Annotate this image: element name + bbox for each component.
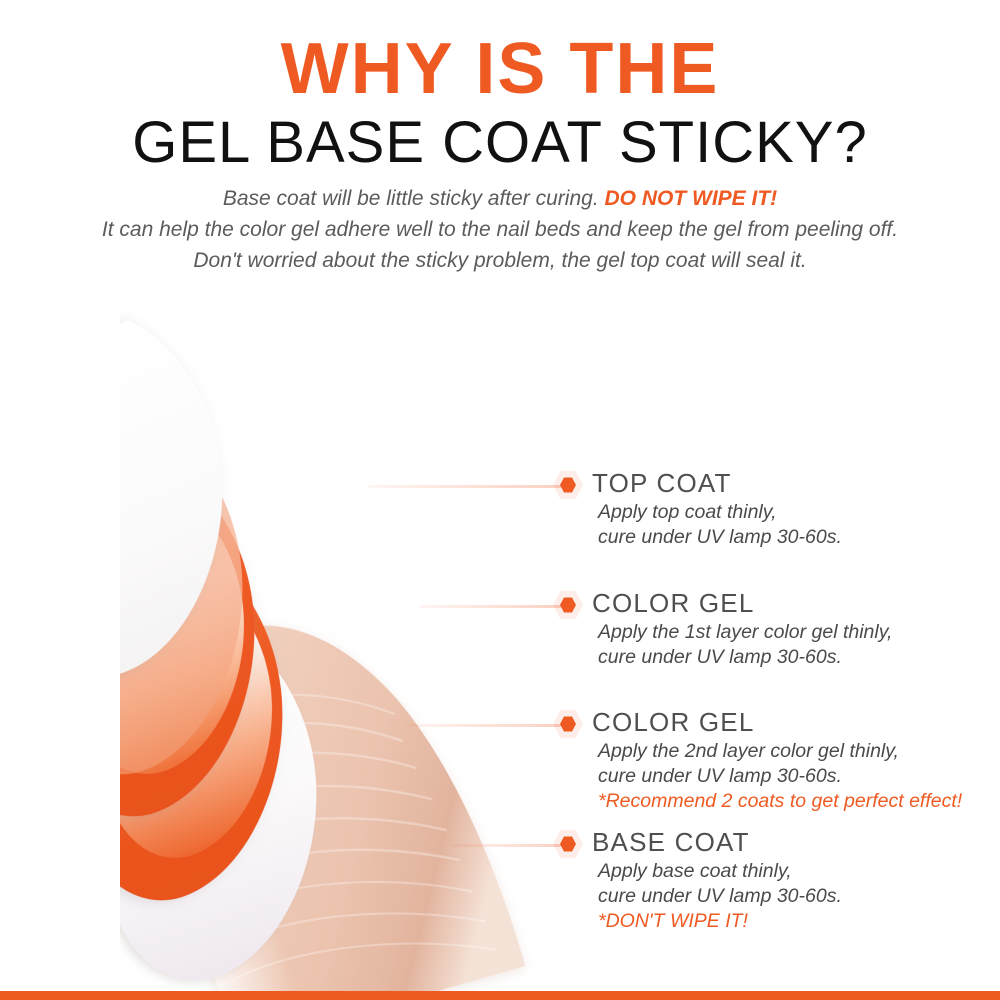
bullet-hexagon-base-coat xyxy=(553,829,583,859)
callout-top-coat: TOP COAT Apply top coat thinly, cure und… xyxy=(592,469,992,550)
callout-body: Apply the 2nd layer color gel thinly, cu… xyxy=(592,739,992,814)
infographic-page: WHY IS THE GEL BASE COAT STICKY? Base co… xyxy=(0,0,1000,1000)
leader-line-top-coat xyxy=(368,485,562,488)
callout-line-2: cure under UV lamp 30-60s. xyxy=(598,764,992,789)
callout-body: Apply the 1st layer color gel thinly, cu… xyxy=(592,620,992,670)
leader-line-base-coat xyxy=(452,844,562,847)
callout-title: BASE COAT xyxy=(592,828,992,856)
callout-line-2: cure under UV lamp 30-60s. xyxy=(598,884,992,909)
subtitle-line-1: Base coat will be little sticky after cu… xyxy=(0,183,1000,214)
subtitle-line-2: It can help the color gel adhere well to… xyxy=(0,214,1000,245)
leader-line-color-gel-2 xyxy=(406,724,562,727)
callout-note: *Recommend 2 coats to get perfect effect… xyxy=(598,789,992,814)
callout-line-1: Apply base coat thinly, xyxy=(598,859,992,884)
callout-line-2: cure under UV lamp 30-60s. xyxy=(598,525,992,550)
callout-title: COLOR GEL xyxy=(592,589,992,617)
subtitle-warning: DO NOT WIPE IT! xyxy=(605,187,778,210)
leader-line-color-gel-1 xyxy=(420,605,562,608)
subtitle-line-3: Don't worried about the sticky problem, … xyxy=(0,245,1000,276)
callout-body: Apply base coat thinly, cure under UV la… xyxy=(592,859,992,934)
callout-line-2: cure under UV lamp 30-60s. xyxy=(598,645,992,670)
callout-title: TOP COAT xyxy=(592,469,992,497)
callout-note: *DON'T WIPE IT! xyxy=(598,909,992,934)
nail-layers-illustration xyxy=(120,295,590,1000)
page-title: WHY IS THE GEL BASE COAT STICKY? xyxy=(0,32,1000,176)
title-line-2: GEL BASE COAT STICKY? xyxy=(0,110,1000,176)
callout-line-1: Apply the 1st layer color gel thinly, xyxy=(598,620,992,645)
callout-line-1: Apply the 2nd layer color gel thinly, xyxy=(598,739,992,764)
callout-color-gel-2: COLOR GEL Apply the 2nd layer color gel … xyxy=(592,708,992,814)
callout-color-gel-1: COLOR GEL Apply the 1st layer color gel … xyxy=(592,589,992,670)
callout-body: Apply top coat thinly, cure under UV lam… xyxy=(592,500,992,550)
title-line-1: WHY IS THE xyxy=(0,32,1000,106)
callout-title: COLOR GEL xyxy=(592,708,992,736)
callout-line-1: Apply top coat thinly, xyxy=(598,500,992,525)
bullet-hexagon-top-coat xyxy=(553,470,583,500)
callout-base-coat: BASE COAT Apply base coat thinly, cure u… xyxy=(592,828,992,934)
subtitle-line-1-text: Base coat will be little sticky after cu… xyxy=(223,187,605,210)
bullet-hexagon-color-gel-2 xyxy=(553,709,583,739)
bullet-hexagon-color-gel-1 xyxy=(553,590,583,620)
bottom-accent-bar xyxy=(0,991,1000,1000)
nail-layers-svg xyxy=(120,295,590,1000)
subtitle: Base coat will be little sticky after cu… xyxy=(0,183,1000,276)
